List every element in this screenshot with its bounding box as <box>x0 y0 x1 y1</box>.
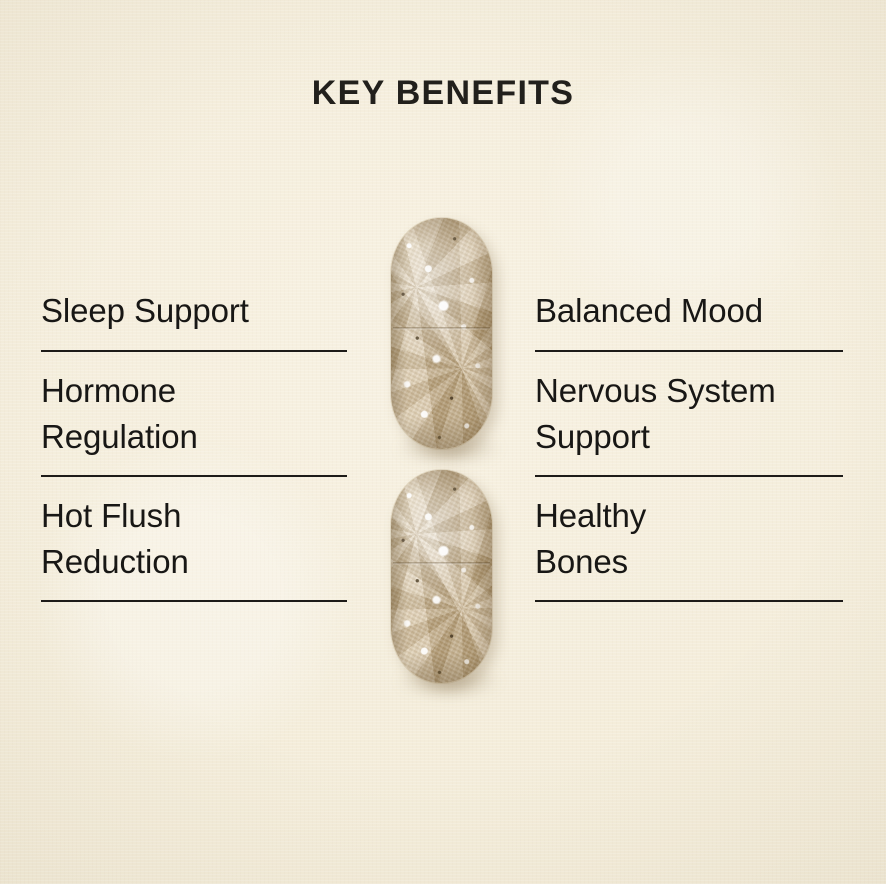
benefit-divider <box>41 350 347 352</box>
benefits-column-left: Sleep Support Hormone Regulation Hot Flu… <box>41 288 347 602</box>
benefit-label: Hormone Regulation <box>41 368 347 460</box>
benefit-divider <box>41 475 347 477</box>
benefits-column-right: Balanced Mood Nervous System Support Hea… <box>535 288 843 602</box>
benefit-label: Nervous System Support <box>535 368 843 460</box>
benefit-label: Healthy Bones <box>535 493 843 585</box>
benefit-label: Balanced Mood <box>535 288 843 334</box>
benefit-item-sleep-support: Sleep Support <box>41 288 347 334</box>
tablet-edge-shading <box>391 470 492 683</box>
benefit-item-hormone-regulation: Hormone Regulation <box>41 368 347 460</box>
benefit-label: Hot Flush Reduction <box>41 493 347 585</box>
benefit-item-nervous-system-support: Nervous System Support <box>535 368 843 460</box>
supplement-tablet-bottom <box>391 470 492 683</box>
benefit-divider <box>535 600 843 602</box>
benefit-item-hot-flush-reduction: Hot Flush Reduction <box>41 493 347 585</box>
page-title: KEY BENEFITS <box>0 74 886 113</box>
tablet-edge-shading <box>391 218 492 449</box>
supplement-tablet-top <box>391 218 492 449</box>
benefit-divider <box>535 475 843 477</box>
benefit-divider <box>535 350 843 352</box>
benefit-label: Sleep Support <box>41 288 347 334</box>
benefit-item-healthy-bones: Healthy Bones <box>535 493 843 585</box>
key-benefits-graphic: KEY BENEFITS Sleep Support Hormone Regul… <box>0 0 886 884</box>
benefit-item-balanced-mood: Balanced Mood <box>535 288 843 334</box>
benefit-divider <box>41 600 347 602</box>
